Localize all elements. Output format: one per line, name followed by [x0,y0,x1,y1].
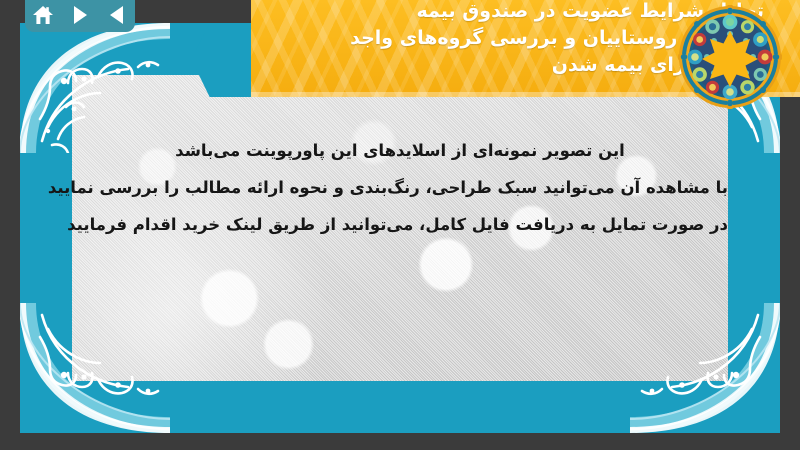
home-button[interactable] [30,2,56,28]
navigation-toolbar [25,0,135,32]
forward-button[interactable] [67,2,93,28]
banner-arrow-tail [196,23,258,97]
back-button[interactable] [104,2,130,28]
body-line-1: این تصویر نمونه‌ای از اسلایدهای این پاور… [72,132,728,169]
body-line-3: در صورت تمایل به دریافت فایل کامل، می‌تو… [72,206,728,243]
slide-body-text: این تصویر نمونه‌ای از اسلایدهای این پاور… [72,132,728,243]
triangle-right-icon [74,6,87,24]
persian-medallion-ornament [678,5,782,109]
body-line-2: با مشاهده آن می‌توانید سبک طراحی، رنگ‌بن… [72,169,728,206]
home-icon [32,5,54,25]
slide-canvas: تحلیل شرایط عضویت در صندوق بیمه اجتماعی … [0,0,800,450]
triangle-left-icon [110,6,123,24]
